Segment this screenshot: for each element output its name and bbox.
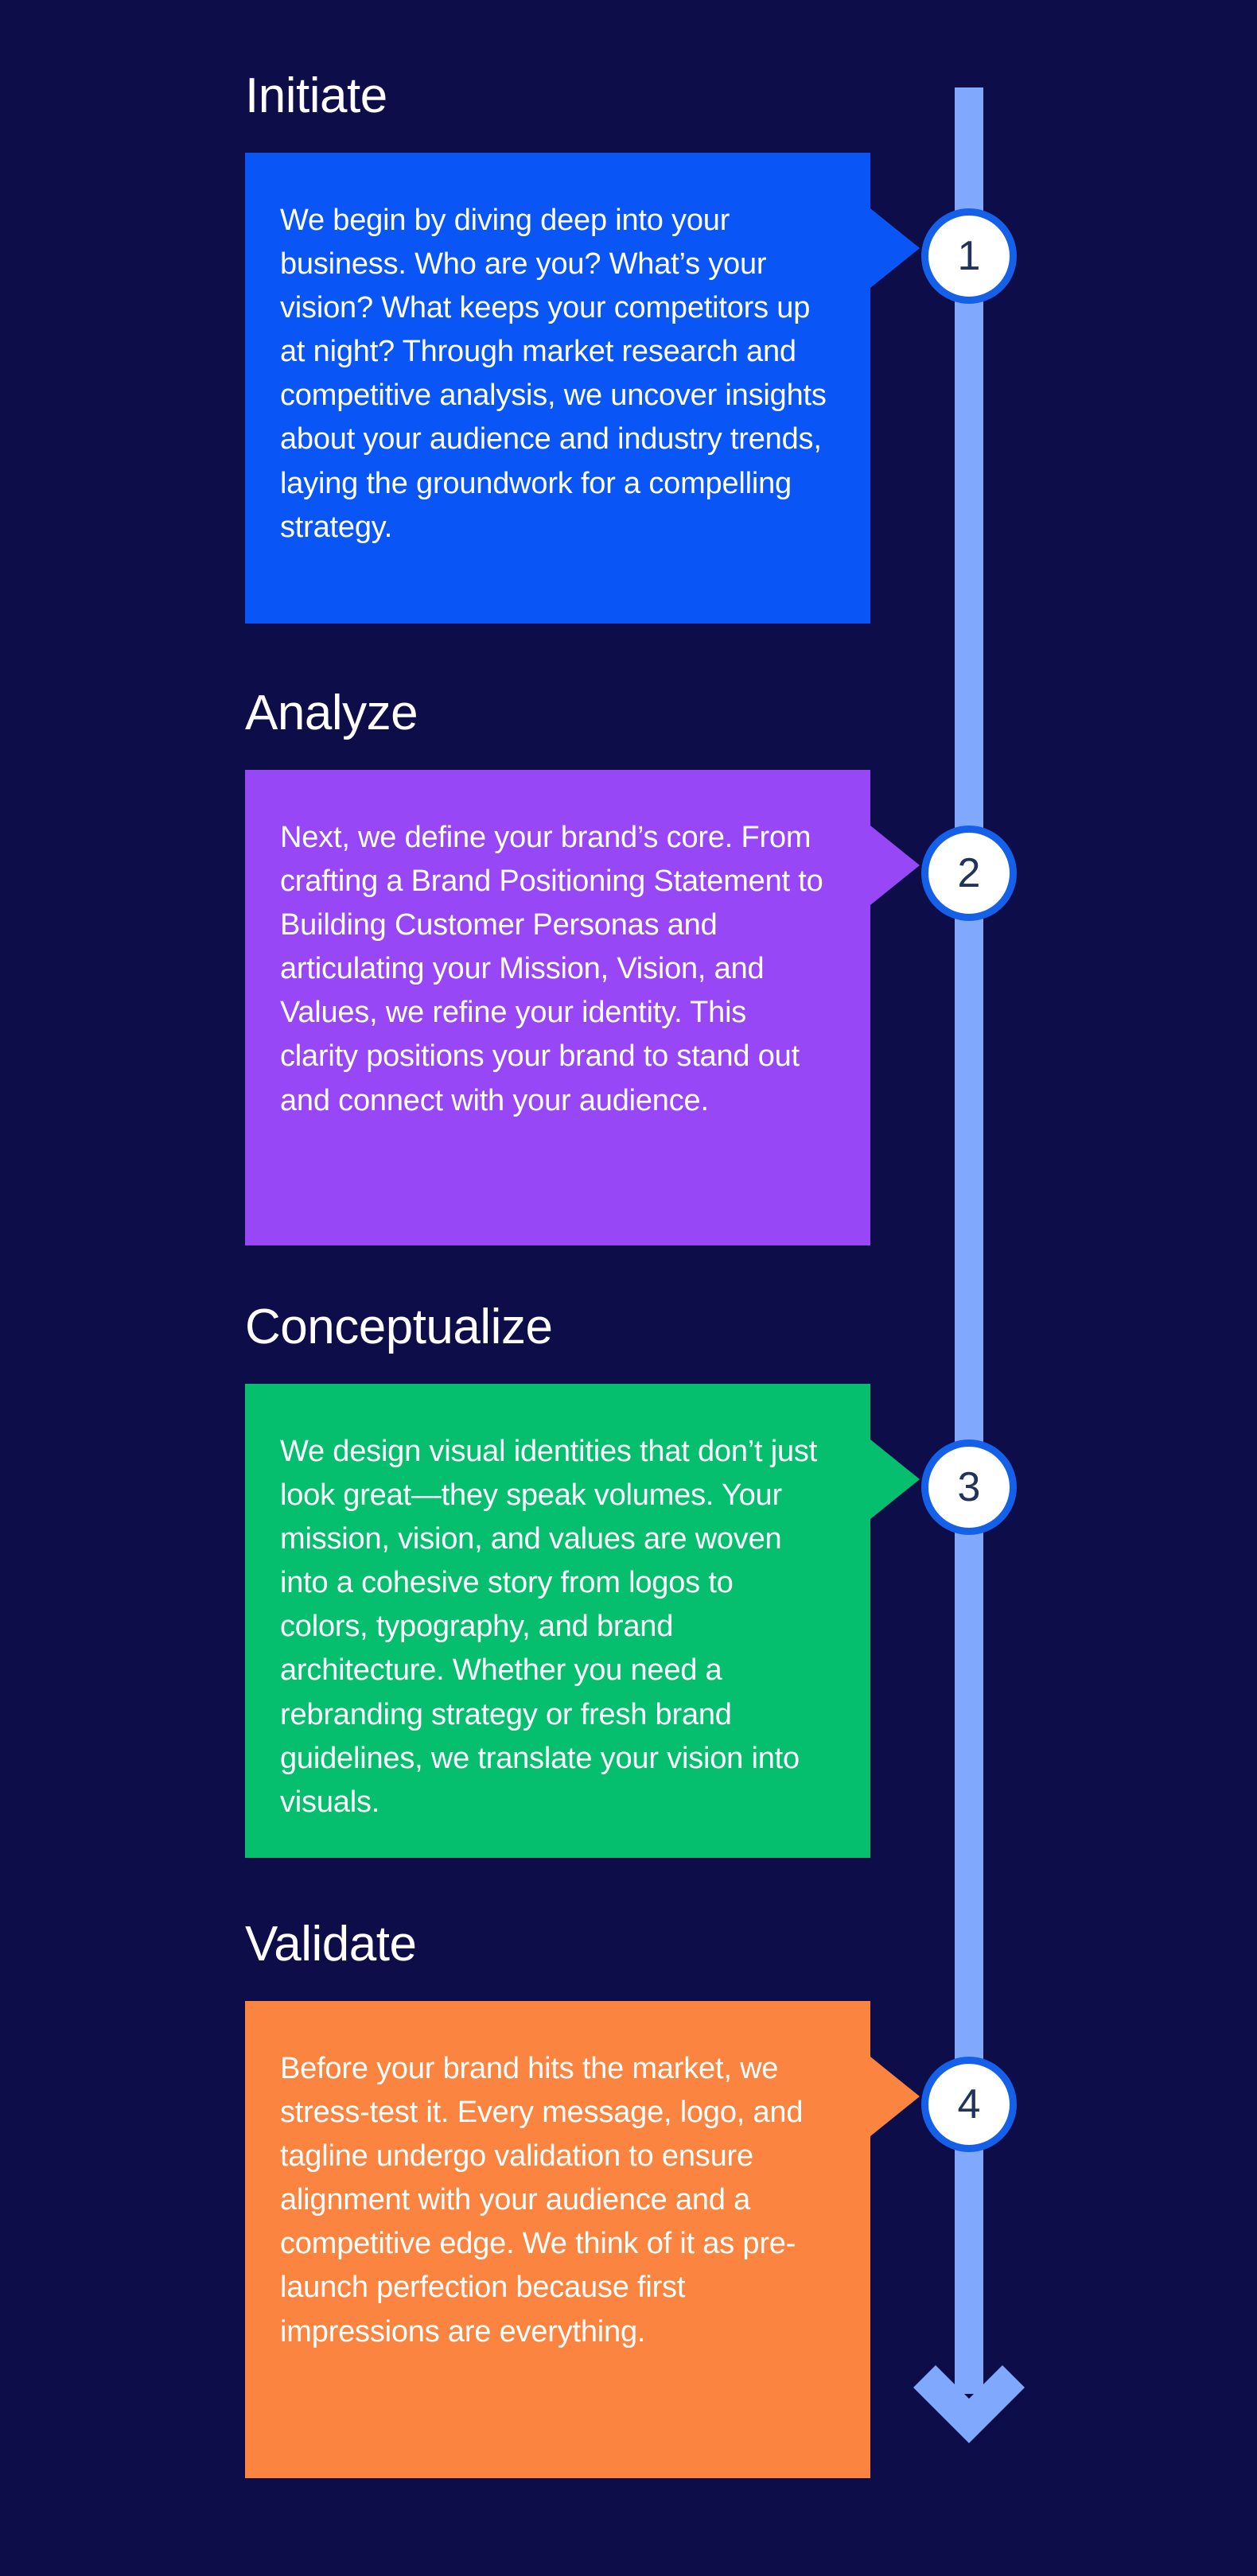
step-card-2: Next, we define your brand’s core. From …	[245, 770, 870, 1245]
timeline-marker-1[interactable]: 1	[921, 208, 1017, 304]
step-card-pointer-3	[870, 1440, 920, 1519]
timeline-marker-3[interactable]: 3	[921, 1440, 1017, 1535]
timeline-marker-number-2: 2	[958, 853, 981, 894]
step-heading-4: Validate	[245, 1918, 416, 1970]
arrow-down-icon	[899, 2346, 1039, 2457]
timeline-marker-number-4: 4	[958, 2084, 981, 2125]
step-heading-2: Analyze	[245, 687, 418, 739]
step-heading-1: Initiate	[245, 70, 387, 122]
step-body-4: Before your brand hits the market, we st…	[280, 2047, 827, 2354]
timeline-marker-number-3: 3	[958, 1467, 981, 1508]
step-body-2: Next, we define your brand’s core. From …	[280, 816, 827, 1123]
step-body-1: We begin by diving deep into your busine…	[280, 199, 827, 550]
timeline-spine	[955, 87, 983, 2394]
timeline-marker-4[interactable]: 4	[921, 2057, 1017, 2152]
step-card-3: We design visual identities that don’t j…	[245, 1384, 870, 1858]
step-body-3: We design visual identities that don’t j…	[280, 1430, 827, 1824]
step-card-pointer-4	[870, 2057, 920, 2136]
step-card-4: Before your brand hits the market, we st…	[245, 2001, 870, 2478]
step-card-pointer-1	[870, 208, 920, 288]
timeline-marker-number-1: 1	[958, 235, 981, 277]
step-card-1: We begin by diving deep into your busine…	[245, 153, 870, 624]
step-card-pointer-2	[870, 826, 920, 905]
timeline-marker-2[interactable]: 2	[921, 826, 1017, 921]
process-timeline: Initiate We begin by diving deep into yo…	[0, 0, 1257, 2576]
step-heading-3: Conceptualize	[245, 1301, 552, 1353]
